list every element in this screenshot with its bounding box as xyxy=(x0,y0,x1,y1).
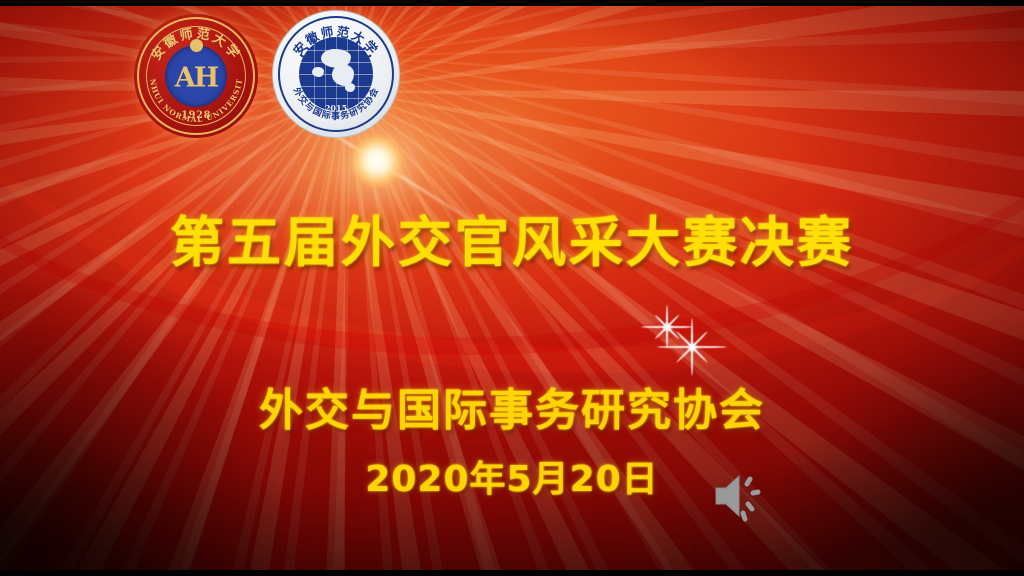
seal-sun-motif xyxy=(190,39,203,52)
anhui-normal-university-seal: 安徽师范大学 ANHUI NORMAL UNIVERSITY AH 1928 xyxy=(134,14,258,138)
seal-founding-year: 2015 xyxy=(325,103,347,113)
corner-shadow-right xyxy=(764,310,1024,570)
speaker-sound-icon[interactable] xyxy=(712,468,772,524)
letterbox-bar-bottom xyxy=(0,570,1024,576)
slide-subtitle: 外交与国际事务研究协会 xyxy=(0,374,1024,438)
letterbox-bar-top xyxy=(0,0,1024,6)
slide-title: 第五届外交官风采大赛决赛 xyxy=(0,198,1024,277)
slide-date: 2020年5月20日 xyxy=(0,450,1024,502)
seal-monogram: AH xyxy=(175,65,217,92)
seal-founding-year: 1928 xyxy=(181,110,211,121)
presentation-slide: 安徽师范大学 ANHUI NORMAL UNIVERSITY AH 1928 xyxy=(0,0,1024,576)
international-affairs-association-seal: 安徽师范大学 外交与国际事务研究协会 2015 xyxy=(272,10,400,138)
